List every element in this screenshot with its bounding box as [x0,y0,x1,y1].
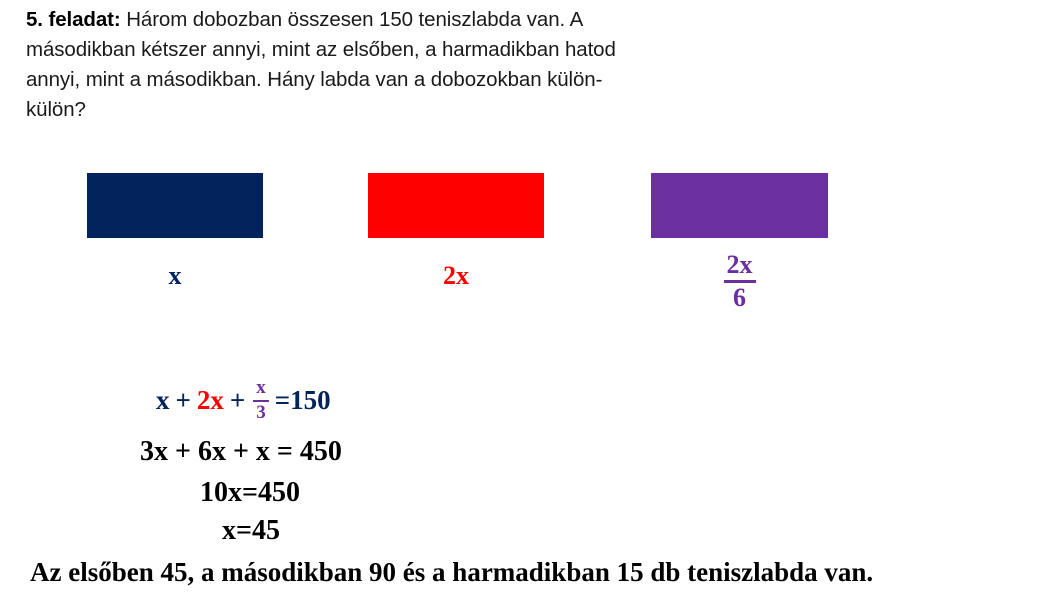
equation-term-2: 2x [197,387,224,414]
equation-main: x + 2x + x 3 = 150 [156,378,331,423]
third-box-fraction-numerator: 2x [724,251,756,278]
solution-step-3: x=45 [222,515,280,547]
first-box-label-text: x [169,261,182,290]
third-box-fraction: 2x 6 [724,251,756,312]
equation-fraction-numerator: x [253,378,269,398]
boxes-row: x 2x 2x 6 [0,0,1040,350]
equation-fraction-denominator: 3 [253,403,269,423]
equation-operator-2: + [230,387,245,414]
equation-operator-1: + [176,387,191,414]
second-box [368,173,544,238]
equation-fraction: x 3 [253,378,269,423]
equation-term-1: x [156,387,170,414]
solution-step-2: 10x=450 [200,477,300,509]
worksheet-page: { "problem": { "label": "5. feladat:", "… [0,0,1040,607]
second-box-label: 2x [368,261,544,291]
third-box-fraction-denominator: 6 [724,284,756,311]
equation-result: 150 [290,387,331,414]
solution-step-1: 3x + 6x + x = 450 [140,436,342,468]
first-box [87,173,263,238]
first-box-label: x [87,261,263,291]
answer-line: Az elsőben 45, a másodikban 90 és a harm… [30,557,873,588]
second-box-label-text: 2x [443,261,469,290]
third-box-label: 2x 6 [651,251,828,312]
third-box [651,173,828,238]
equation-equals-sign: = [275,387,290,414]
